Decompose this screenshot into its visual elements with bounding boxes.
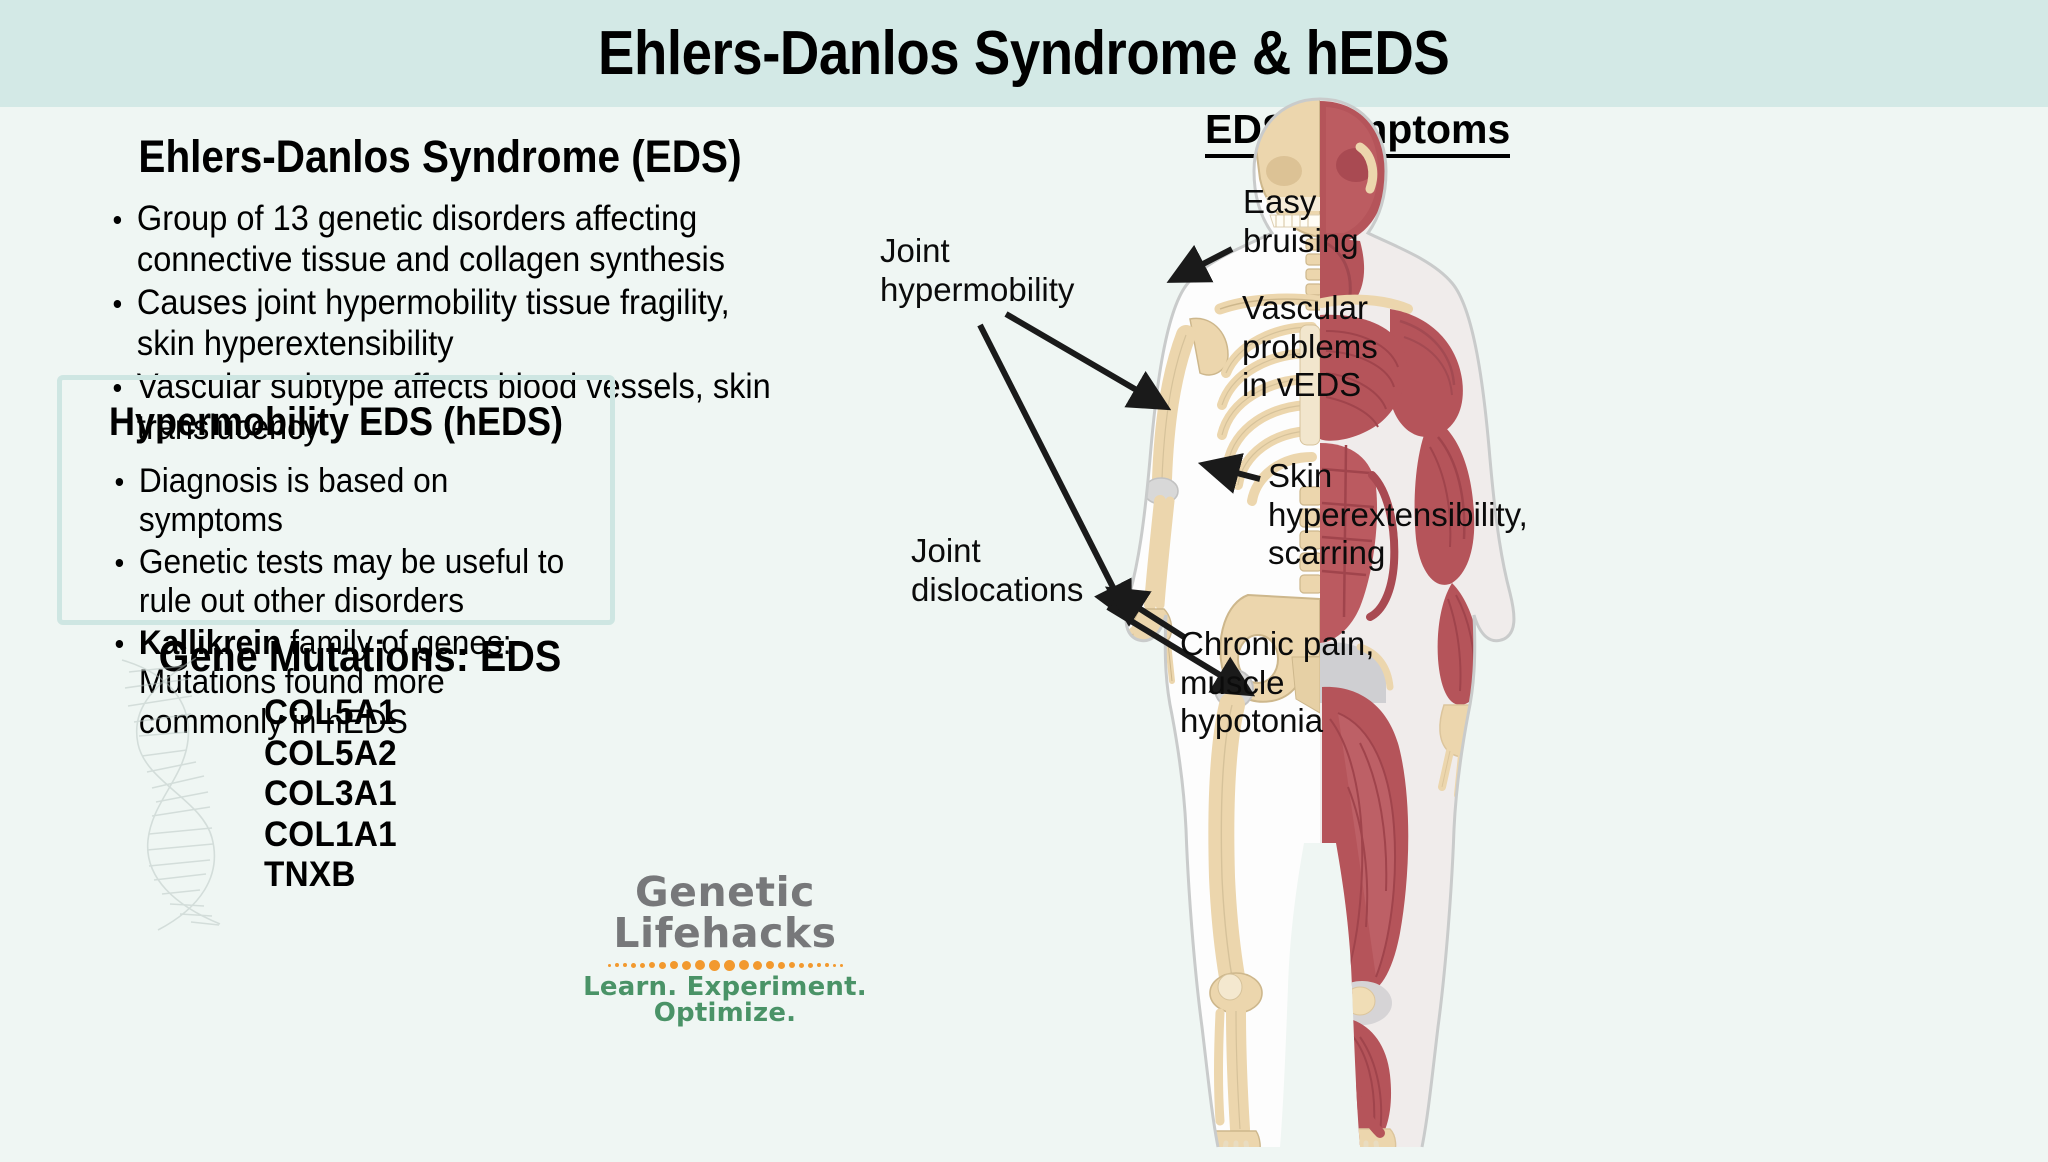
brand-name: Genetic Lifehacks [555,872,895,954]
callout-joint-dislocations: Joint dislocations [911,532,1083,609]
gene-mutations-heading: Gene Mutations: EDS [135,632,585,682]
heds-callout-box: Hypermobility EDS (hEDS) Diagnosis is ba… [57,375,615,625]
left-content-column: Ehlers-Danlos Syndrome (EDS) Group of 13… [0,107,880,1152]
brand-tagline: Learn. Experiment. Optimize. [555,974,895,1026]
list-item-text: Genetic tests may be useful to rule out … [139,543,564,620]
list-item: Group of 13 genetic disorders affecting … [96,199,784,280]
callout-chronic-pain: Chronic pain, muscle hypotonia [1180,625,1374,741]
list-item: Genetic tests may be useful to rule out … [98,543,568,621]
list-item: COL1A1 [264,815,397,856]
heds-section-heading: Hypermobility EDS (hEDS) [89,400,582,445]
callout-easy-bruising: Easy bruising [1243,183,1359,260]
list-item: COL5A2 [264,734,397,775]
anatomy-panel: EDS Symptoms [880,107,2048,1152]
logo-dot-divider [555,958,895,972]
callout-joint-hypermobility: Joint hypermobility [880,232,1074,309]
list-item: Causes joint hypermobility tissue fragil… [96,283,784,364]
page-title: Ehlers-Danlos Syndrome & hEDS [598,18,1449,89]
list-item: TNXB [264,855,397,896]
list-item: COL5A1 [264,693,397,734]
list-item: COL3A1 [264,774,397,815]
eds-section-heading: Ehlers-Danlos Syndrome (EDS) [98,131,782,183]
callout-vascular-problems: Vascular problems in vEDS [1242,289,1378,405]
callout-skin-hyperextensibility: Skin hyperextensibility, scarring [1268,457,1528,573]
gene-mutation-list: COL5A1 COL5A2 COL3A1 COL1A1 TNXB [264,693,404,896]
list-item-text: Diagnosis is based on symptoms [139,462,448,539]
list-item: Diagnosis is based on symptoms [98,462,568,540]
brand-logo: Genetic Lifehacks Learn. Experiment. Opt… [555,872,895,1026]
header-band: Ehlers-Danlos Syndrome & hEDS [0,0,2048,107]
